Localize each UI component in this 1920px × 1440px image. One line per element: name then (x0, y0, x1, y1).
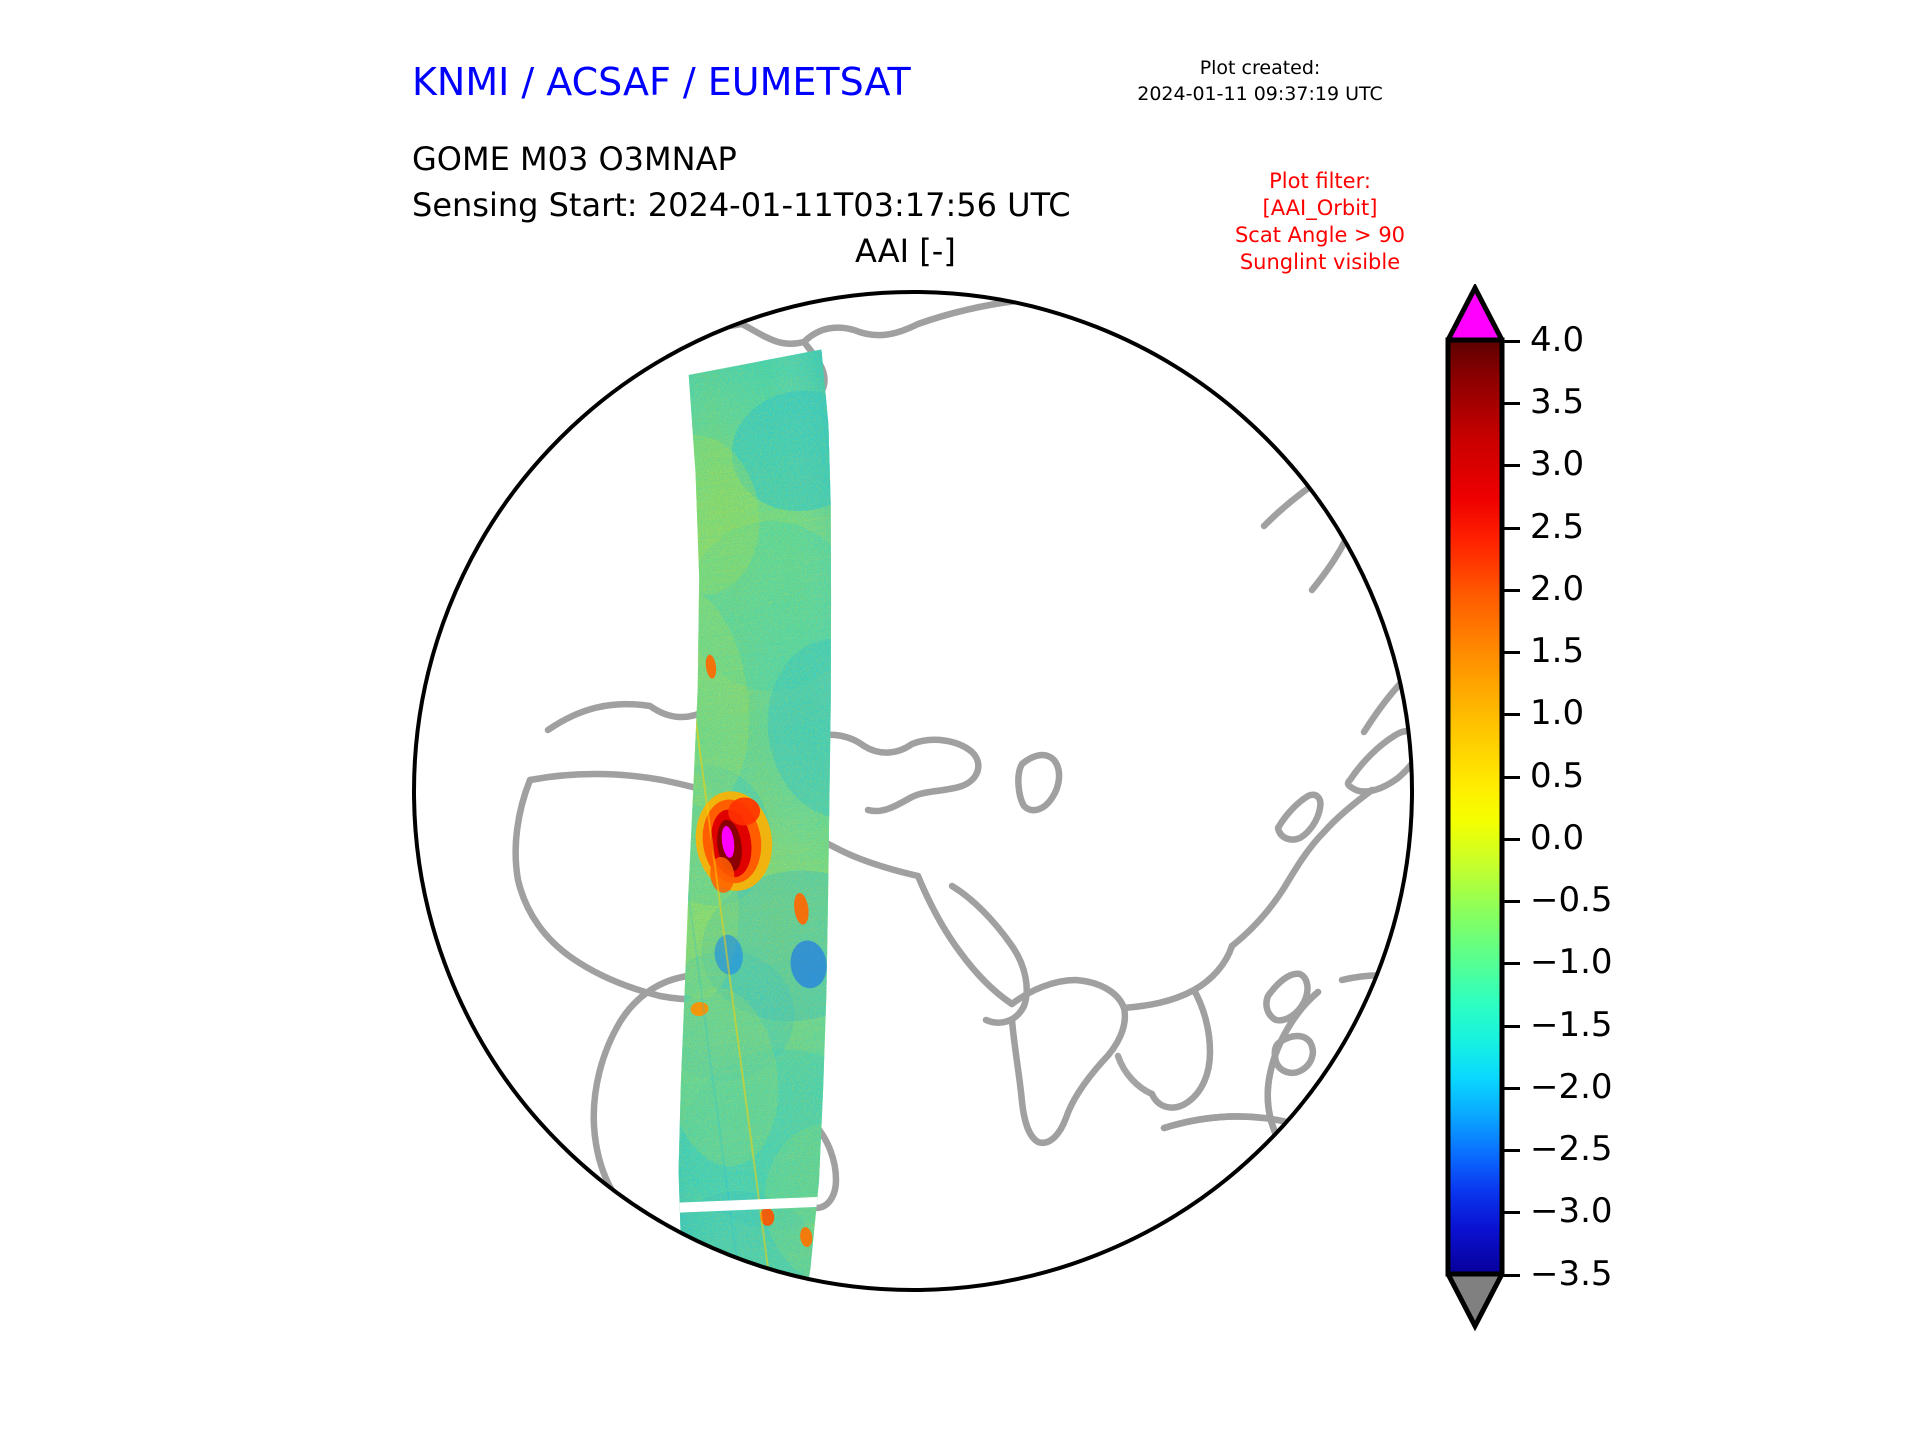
colorbar-tick (1502, 402, 1520, 405)
colorbar-label: 3.0 (1530, 444, 1584, 484)
colorbar-tick (1502, 900, 1520, 903)
page-title: AAI [-] (855, 232, 956, 270)
colorbar-tick (1502, 464, 1520, 467)
plot-created-timestamp: 2024-01-11 09:37:19 UTC (1060, 81, 1460, 107)
colorbar-label: 1.5 (1530, 631, 1584, 671)
colorbar-label: −0.5 (1530, 880, 1613, 920)
sensing-start-text: Sensing Start: 2024-01-11T03:17:56 UTC (412, 186, 1071, 224)
globe-map (412, 290, 1414, 1292)
colorbar-tick (1502, 589, 1520, 592)
colorbar-tick (1502, 1274, 1520, 1277)
colorbar-tick (1502, 962, 1520, 965)
globe-disc (414, 292, 1412, 1290)
colorbar-tick (1502, 838, 1520, 841)
colorbar-label: 2.5 (1530, 507, 1584, 547)
colorbar-label: 2.0 (1530, 569, 1584, 609)
colorbar-label: −3.5 (1530, 1254, 1613, 1294)
colorbar-label: 3.5 (1530, 382, 1584, 422)
colorbar-tick (1502, 527, 1520, 530)
colorbar-label: 0.0 (1530, 818, 1584, 858)
colorbar-tick (1502, 1025, 1520, 1028)
dataset-title: GOME M03 O3MNAP (412, 140, 737, 178)
colorbar-tick (1502, 1149, 1520, 1152)
colorbar-label: −1.0 (1530, 942, 1613, 982)
plot-filter-scat-angle: Scat Angle > 90 (1160, 222, 1480, 249)
colorbar-tick (1502, 1211, 1520, 1214)
colorbar: 4.0 3.5 3.0 2.5 2.0 1.5 1.0 0.5 0.0 −0.5… (1442, 288, 1742, 1348)
plot-created-label: Plot created: (1060, 55, 1460, 81)
colorbar-tick (1502, 713, 1520, 716)
plot-filter-sunglint: Sunglint visible (1160, 249, 1480, 276)
colorbar-label: −2.0 (1530, 1067, 1613, 1107)
colorbar-tick (1502, 776, 1520, 779)
colorbar-label: 4.0 (1530, 320, 1584, 360)
plot-filter-block: Plot filter: [AAI_Orbit] Scat Angle > 90… (1160, 168, 1480, 276)
colorbar-label: −1.5 (1530, 1005, 1613, 1045)
colorbar-tick (1502, 340, 1520, 343)
colorbar-tick (1502, 651, 1520, 654)
plot-filter-variable: [AAI_Orbit] (1160, 195, 1480, 222)
colorbar-label: −3.0 (1530, 1191, 1613, 1231)
plot-filter-label: Plot filter: (1160, 168, 1480, 195)
colorbar-label: −2.5 (1530, 1129, 1613, 1169)
plot-created-block: Plot created: 2024-01-11 09:37:19 UTC (1060, 55, 1460, 107)
organisation-title: KNMI / ACSAF / EUMETSAT (412, 60, 911, 104)
colorbar-tick (1502, 1087, 1520, 1090)
colorbar-label: 1.0 (1530, 693, 1584, 733)
colorbar-label: 0.5 (1530, 756, 1584, 796)
